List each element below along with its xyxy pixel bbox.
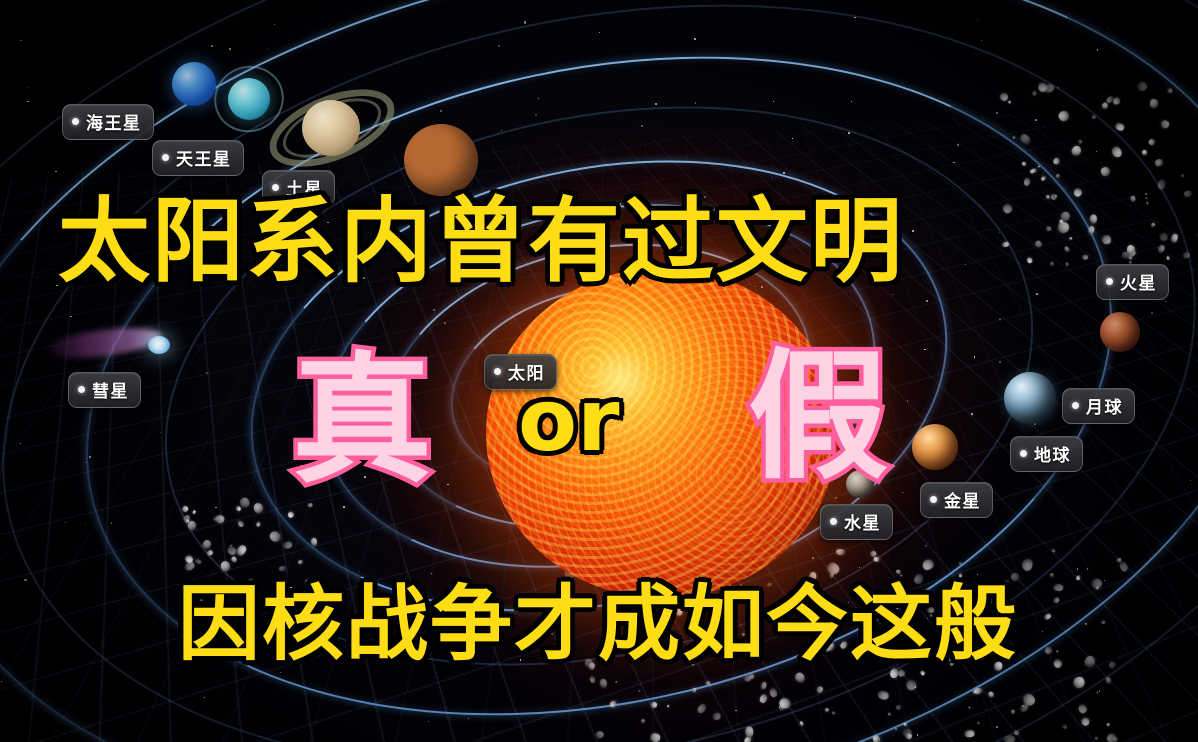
bullet-dot-icon	[162, 154, 169, 161]
headline-bottom: 因核战争才成如今这般	[178, 584, 1018, 666]
or-connector: or	[518, 378, 620, 464]
label-comet: 彗星	[68, 372, 141, 408]
label-uranus: 天王星	[152, 140, 244, 176]
thumbnail-canvas: 海王星 天王星 土星 彗星 太阳 火星 月球 地球 金星 水星 太阳系内曾有过文…	[0, 0, 1198, 742]
label-text: 海王星	[86, 109, 142, 134]
verdict-true-character: 真	[292, 352, 432, 492]
label-text: 月球	[1086, 393, 1123, 418]
label-text: 金星	[944, 487, 981, 512]
bullet-dot-icon	[830, 518, 837, 525]
verdict-false-character: 假	[748, 348, 888, 488]
bullet-dot-icon	[72, 118, 79, 125]
bullet-dot-icon	[1020, 450, 1027, 457]
label-moon: 月球	[1062, 388, 1135, 424]
label-mars: 火星	[1096, 264, 1169, 300]
label-text: 地球	[1034, 441, 1071, 466]
label-text: 火星	[1120, 269, 1157, 294]
bullet-dot-icon	[1106, 278, 1113, 285]
bullet-dot-icon	[494, 368, 501, 375]
bullet-dot-icon	[930, 496, 937, 503]
bullet-dot-icon	[78, 386, 85, 393]
label-mercury: 水星	[820, 504, 893, 540]
label-venus: 金星	[920, 482, 993, 518]
label-text: 彗星	[92, 377, 129, 402]
bullet-dot-icon	[1072, 402, 1079, 409]
label-text: 天王星	[176, 145, 232, 170]
headline-top: 太阳系内曾有过文明	[58, 196, 904, 288]
label-text: 水星	[844, 509, 881, 534]
label-earth: 地球	[1010, 436, 1083, 472]
label-neptune: 海王星	[62, 104, 154, 140]
